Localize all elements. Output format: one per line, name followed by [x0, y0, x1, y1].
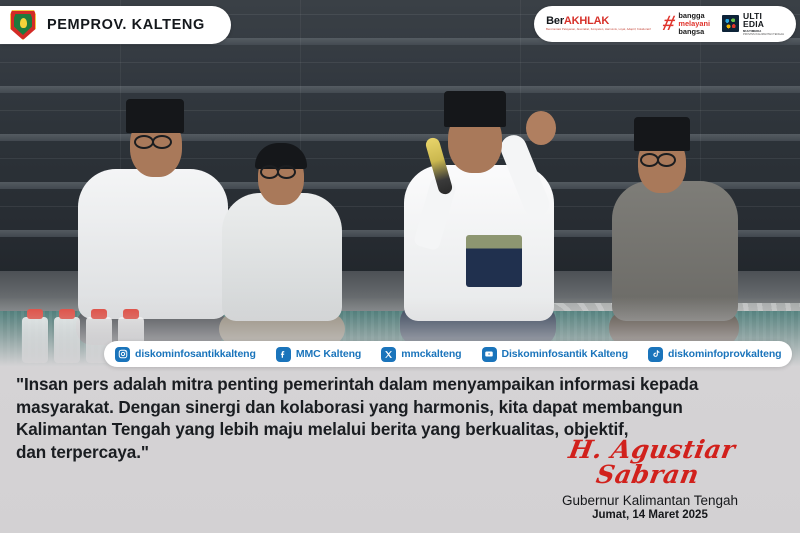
signature-position: Gubernur Kalimantan Tengah — [520, 493, 780, 508]
berakhlak-tagline: Berorientasi Pelayanan, Akuntabel, Kompe… — [546, 29, 651, 32]
social-item-tiktok[interactable]: diskominfoprovkalteng — [648, 347, 781, 362]
org-title: PEMPROV. KALTENG — [47, 17, 205, 33]
x-twitter-icon — [381, 347, 396, 362]
hash-mark-icon: # — [660, 13, 676, 34]
glasses-icon — [277, 165, 296, 179]
logo-berakhlak: BerAKHLAK Berorientasi Pelayanan, Akunta… — [546, 16, 651, 31]
signature-date: Jumat, 14 Maret 2025 — [520, 509, 780, 521]
partner-logos: BerAKHLAK Berorientasi Pelayanan, Akunta… — [534, 6, 796, 42]
signature-block: H. Agustiar Sabran Gubernur Kalimantan T… — [520, 437, 780, 521]
kalteng-provincial-emblem-icon — [10, 10, 36, 40]
peci-icon — [126, 99, 184, 133]
logo-multimedia-kalteng: ULTI EDIA MULTIMEDIA PROVINSI KALIMANTAN… — [722, 12, 784, 36]
youtube-icon — [482, 347, 497, 362]
logo-bangga-melayani-bangsa: # bangga melayani bangsa — [663, 12, 710, 35]
multimedia-mosaic-icon — [722, 15, 739, 32]
berakhlak-wordmark: BerAKHLAK — [546, 16, 609, 27]
instagram-icon — [115, 347, 130, 362]
social-handle: diskominfosantikkalteng — [135, 348, 256, 360]
social-item-instagram[interactable]: diskominfosantikkalteng — [115, 347, 256, 362]
tiktok-icon — [648, 347, 663, 362]
quote-line-1: "Insan pers adalah mitra penting pemerin… — [16, 374, 784, 397]
poster-card: PEMPROV. KALTENG BerAKHLAK Berorientasi … — [0, 0, 800, 533]
bangga-line3: bangsa — [678, 28, 710, 36]
social-item-youtube[interactable]: Diskominfosantik Kalteng — [482, 347, 629, 362]
peci-icon — [444, 91, 506, 127]
glasses-icon — [152, 135, 172, 149]
glasses-icon — [134, 135, 154, 149]
facebook-icon — [276, 347, 291, 362]
social-handle: mmckalteng — [401, 348, 461, 360]
peci-icon — [634, 117, 690, 151]
org-badge: PEMPROV. KALTENG — [0, 6, 231, 44]
event-photo — [0, 0, 800, 367]
multimedia-line2: EDIA — [743, 20, 784, 29]
glasses-icon — [657, 153, 676, 167]
social-handle: MMC Kalteng — [296, 348, 361, 360]
social-handle: Diskominfosantik Kalteng — [502, 348, 629, 360]
social-handle: diskominfoprovkalteng — [668, 348, 781, 360]
social-item-x-twitter[interactable]: mmckalteng — [381, 347, 461, 362]
quote-line-2: masyarakat. Dengan sinergi dan kolaboras… — [16, 397, 784, 420]
signature-script: H. Agustiar Sabran — [516, 437, 785, 487]
social-media-bar: diskominfosantikkalteng MMC Kalteng mmck… — [104, 341, 792, 367]
multimedia-subtitle: PROVINSI KALIMANTAN TENGAH — [743, 34, 784, 37]
social-item-facebook[interactable]: MMC Kalteng — [276, 347, 361, 362]
